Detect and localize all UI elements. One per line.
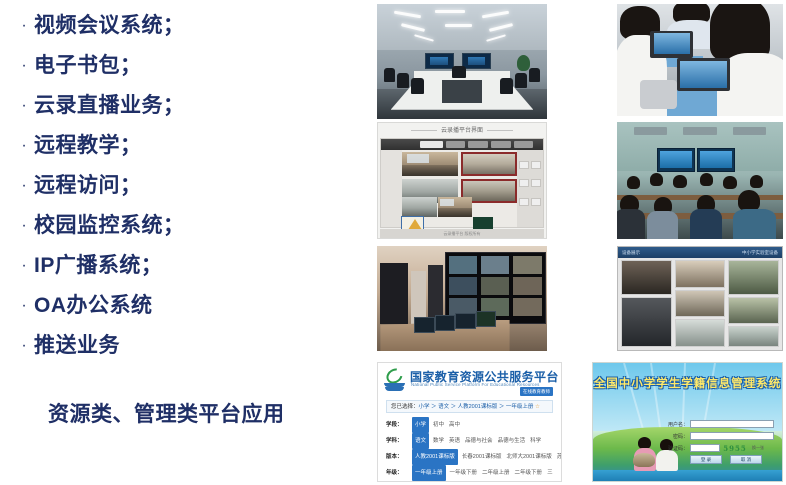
ac-unit [634,127,667,135]
video-wall-tile [448,255,479,275]
bullet-dot-icon: · [14,126,34,166]
filter-selected[interactable]: 一年级上册 [412,465,446,481]
filter-label: 版本： [386,450,412,464]
projection-screen-right [697,148,736,172]
desk-monitor[interactable] [414,317,435,333]
filter-option[interactable]: 初中 [433,418,444,432]
filter-option[interactable]: 数学 [433,434,444,448]
student-head [723,176,736,189]
ceiling-light [435,10,466,13]
video-wall-tile [480,276,511,296]
selection-label: 您已选择： [391,404,419,410]
filter-row-stage: 学段：小学初中高中 [386,417,555,431]
thumbnail[interactable] [402,197,437,217]
projection-screen-left [657,148,696,172]
filter-selected[interactable]: 小学 [412,417,429,433]
selection-breadcrumb: 您已选择：小学 ＞ 语文 ＞ 人教2001课标版 ＞ 一年级上册 ☆ [386,400,553,413]
bullet-dot-icon: · [14,246,34,286]
bullet-dot-icon: · [14,326,34,366]
student-head [738,190,760,211]
bullet-dot-icon: · [14,46,34,86]
bullet-label: 视频会议系统； [34,6,185,46]
slide-canvas: · 视频会议系统； · 电子书包； · 云录直播业务； · 远程教学； · 远程… [0,0,786,485]
login-button[interactable]: 登 录 [690,455,722,464]
bullet-dot-icon: · [14,166,34,206]
filter-row-grade: 年级：一年级上册一年级下册二年级上册二年级下册三 [386,465,555,479]
caption-text: 云录播平台界面 [441,128,483,134]
caption-rule-left [411,130,437,131]
captcha-label: 验证码： [662,445,690,452]
closing-statement: 资源类、管理类平台应用 [48,398,285,428]
student-head [673,175,686,188]
record-button[interactable] [519,161,529,169]
ac-unit [733,127,766,135]
list-item: · 远程教学； [14,126,372,166]
chair [452,66,466,78]
captcha-input[interactable] [690,444,720,452]
bullet-label: 云录直播业务； [34,86,185,126]
app-footer: 云录播平台 版权所有 [380,229,544,238]
filter-option[interactable]: 一年级下册 [450,466,478,480]
gallery-bar-left-label: 设备展示 [622,247,640,258]
login-title: 全国中小学学生学籍信息管理系统 [593,375,782,391]
username-label: 用户名： [662,421,690,428]
filter-option[interactable]: 苏 [557,450,562,464]
gallery-item[interactable] [675,319,726,347]
tab-manage[interactable] [514,141,533,148]
control-panel [517,150,543,227]
filter-option[interactable]: 二年级上册 [482,466,510,480]
student-head [750,175,763,188]
student-body [733,209,776,239]
filter-label: 学科： [386,434,412,448]
tab-schedule[interactable] [491,141,510,148]
list-item: · 远程访问； [14,166,372,206]
gallery-grid [621,260,779,347]
student-head [627,176,640,189]
tablet-screen[interactable] [680,61,726,88]
list-item: · 推送业务 [14,326,372,366]
chair [397,73,409,88]
video-wall-tile [512,276,543,296]
cloud-recording-panel: 云录播平台界面 [377,122,547,239]
edu-resource-platform: 国家教育资源公共服务平台 National Public Service Pla… [377,362,562,482]
chair [411,78,424,94]
login-form: 用户名： 密码： 验证码： 5955 换一张 登 录 取 消 [662,419,774,464]
quad-cell-1[interactable] [402,152,458,176]
camera-device [640,80,677,109]
bullet-label: 校园监控系统； [34,206,185,246]
ceiling-light [445,24,472,27]
preset-button[interactable] [519,198,529,206]
filter-option[interactable]: 品德与社会 [465,434,493,448]
captcha-row: 验证码： 5955 换一张 [662,443,774,453]
video-wall-tile [480,255,511,275]
student-head [650,173,663,186]
gallery-item[interactable] [728,326,779,347]
list-item: · 校园监控系统； [14,206,372,246]
filter-option[interactable]: 高中 [449,418,460,432]
cloud-recording-caption: 云录播平台界面 [378,125,546,137]
desk-monitor[interactable] [476,311,497,327]
video-wall-tile [512,297,543,317]
thumbnail-strip [402,197,517,217]
side-navigation[interactable] [381,150,402,227]
password-input[interactable] [690,432,774,440]
breadcrumb-path[interactable]: 小学 ＞ 语文 ＞ 人教2001课标版 ＞ 一年级上册 [419,404,534,410]
filter-selected[interactable]: 人教2001课标版 [412,449,458,465]
gallery-item[interactable] [728,260,779,295]
bullet-label: OA办公系统 [34,286,153,326]
caption-rule-right [487,130,513,131]
thumbnail[interactable] [438,197,473,217]
chair [529,68,540,82]
login-buttons: 登 录 取 消 [690,455,774,464]
username-input[interactable] [690,420,774,428]
chair [384,68,395,82]
bullet-label: IP广播系统； [34,246,162,286]
video-wall-tile [512,255,543,275]
layout-button[interactable] [531,198,541,206]
bullet-list: · 视频会议系统； · 电子书包； · 云录直播业务； · 远程教学； · 远程… [0,6,372,406]
bullet-dot-icon: · [14,286,34,326]
desk-monitor[interactable] [435,315,456,331]
password-row: 密码： [662,431,774,441]
list-item: · OA办公系统 [14,286,372,326]
bullet-label: 远程教学； [34,126,142,166]
bullet-dot-icon: · [14,206,34,246]
gallery-item[interactable] [621,297,672,347]
desk-monitor[interactable] [455,313,476,329]
gallery-bar-right-label: 中小学实验室设备 [742,247,778,258]
gallery-item[interactable] [675,290,726,318]
tab-home[interactable] [420,141,443,148]
filter-option[interactable]: 英语 [449,434,460,448]
video-conference-photo [377,4,547,119]
favorite-star-icon[interactable]: ☆ [535,404,540,410]
filter-option[interactable]: 北师大2001课标版 [507,450,552,464]
gallery-item[interactable] [621,260,672,295]
filter-option[interactable]: 科学 [530,434,541,448]
gallery-item[interactable] [728,297,779,325]
tab-vod[interactable] [468,141,487,148]
quad-cell-2[interactable] [461,152,517,176]
chair [500,78,513,94]
filter-option[interactable]: 三 [547,466,553,480]
pause-button[interactable] [531,161,541,169]
app-toolbar [381,139,543,150]
list-item: · 云录直播业务； [14,86,372,126]
equipment-rack [380,263,407,324]
cabinet [411,271,426,324]
filter-row-subject: 学科：语文数学英语品德与社会品德与生活科学 [386,433,555,447]
surveillance-room-photo [377,246,547,351]
list-item: · 视频会议系统； [14,6,372,46]
filter-label: 年级： [386,466,412,480]
student-head [710,4,770,60]
student-body [647,211,679,239]
settings-button[interactable] [531,179,541,187]
list-item: · 电子书包； [14,46,372,86]
video-wall-tile [448,276,479,296]
potted-plant [517,55,530,71]
student-body [617,209,645,239]
captcha-refresh-link[interactable]: 换一张 [752,445,764,451]
bullet-label: 电子书包； [34,46,142,86]
filter-label: 学段： [386,418,412,432]
student-body [690,209,722,239]
rock-prop [633,453,655,467]
captcha-image: 5955 [720,444,750,453]
student-head [700,173,713,186]
filter-row-edition: 版本：人教2001课标版长春2001课标版北师大2001课标版苏 [386,449,555,463]
filter-option[interactable]: 长春2001课标版 [462,450,502,464]
bullet-dot-icon: · [14,6,34,46]
password-label: 密码： [662,433,690,440]
cloud-recording-window [380,138,544,228]
tablet-screen[interactable] [654,33,691,54]
list-item: · IP广播系统； [14,246,372,286]
conference-display-right [462,53,491,69]
water-band [593,470,782,481]
book-shape-bottom [385,387,404,391]
student-status-login-panel: 全国中小学学生学籍信息管理系统 用户名： 密码： 验证码： [592,362,783,482]
bullet-label: 远程访问； [34,166,142,206]
ac-unit [683,127,716,135]
chair [515,73,527,88]
bullet-label: 推送业务 [34,326,120,366]
cancel-button[interactable]: 取 消 [730,455,762,464]
table-center-well [442,80,483,103]
tab-live[interactable] [446,141,465,148]
username-row: 用户名： [662,419,774,429]
tablet-classroom-photo [617,4,783,116]
gallery-item[interactable] [675,260,726,288]
conference-display-left [425,53,454,69]
platform-logo-icon [384,369,406,393]
remote-teaching-photo [617,122,783,239]
bullet-dot-icon: · [14,86,34,126]
equipment-gallery-panel: 设备展示 中小学实验室设备 [617,246,783,351]
filter-selected[interactable]: 语文 [412,433,429,449]
gallery-title-bar: 设备展示 中小学实验室设备 [618,247,782,258]
quad-view-grid [402,152,517,203]
switch-button[interactable] [519,179,529,187]
filter-option[interactable]: 二年级下册 [515,466,543,480]
platform-badge[interactable]: 在线教育教师 [520,387,553,396]
filter-option[interactable]: 品德与生活 [498,434,526,448]
